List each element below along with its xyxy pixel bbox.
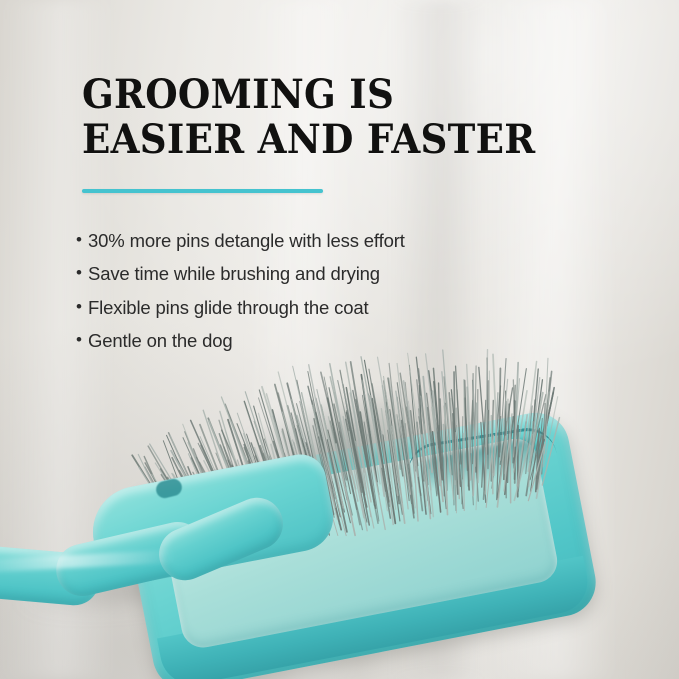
headline-line-1: GROOMING IS <box>82 76 566 114</box>
brush-handle <box>0 527 260 605</box>
bullet-icon: • <box>76 228 88 253</box>
list-item-label: Save time while brushing and drying <box>88 261 380 287</box>
page-title: GROOMING IS EASIER AND FASTER <box>82 76 566 160</box>
feature-list: • 30% more pins detangle with less effor… <box>76 228 546 361</box>
list-item: • Flexible pins glide through the coat <box>76 295 546 321</box>
product-photo-brush <box>0 352 679 679</box>
list-item-label: Gentle on the dog <box>88 328 233 354</box>
bullet-icon: • <box>76 261 88 286</box>
headline-line-2: EASIER AND FASTER <box>82 121 566 159</box>
bullet-icon: • <box>76 295 88 320</box>
accent-divider <box>82 189 323 193</box>
bullet-icon: • <box>76 328 88 353</box>
list-item-label: Flexible pins glide through the coat <box>88 295 369 321</box>
product-feature-image: GROOMING IS EASIER AND FASTER • 30% more… <box>0 0 679 679</box>
list-item-label: 30% more pins detangle with less effort <box>88 228 405 254</box>
list-item: • Save time while brushing and drying <box>76 261 546 287</box>
list-item: • 30% more pins detangle with less effor… <box>76 228 546 254</box>
